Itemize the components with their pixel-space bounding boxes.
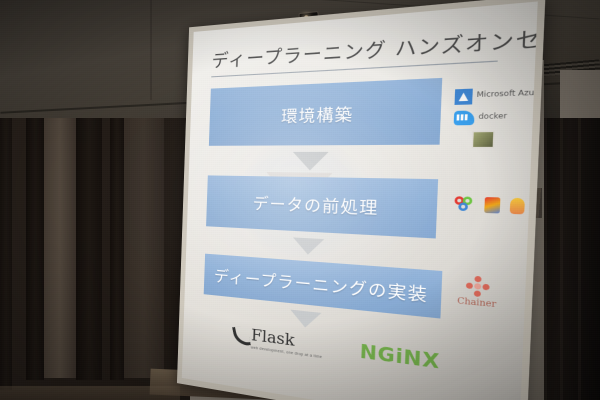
flow-arrow-1 <box>292 152 328 171</box>
logo-group-implementation: Chainer <box>457 275 497 310</box>
numpy-logo <box>484 197 500 213</box>
opencv-icon <box>453 196 475 212</box>
pandas-icon <box>510 198 525 215</box>
step-bar-implementation: ディープラーニングの実装 <box>204 254 443 319</box>
flow-step-1: 環境構築 Microsoft Azure <box>209 75 509 146</box>
step-bar-environment: 環境構築 <box>209 78 442 146</box>
image-logo <box>472 131 495 148</box>
projection-screen: KIKAGAKU ディープラーニング ハンズオンセミナー 環境構築 Micros… <box>177 0 546 400</box>
azure-icon <box>454 89 472 105</box>
flow-arrow-2 <box>292 237 324 255</box>
stage-edge-left <box>0 386 180 400</box>
docker-logo-text: docker <box>478 113 507 121</box>
image-logo-icon <box>472 131 495 148</box>
azure-logo: Microsoft Azure <box>454 86 537 105</box>
chainer-logo-text: Chainer <box>457 296 496 309</box>
flow-arrow-3 <box>290 310 322 330</box>
numpy-icon <box>484 197 500 213</box>
slide-title: ディープラーニング ハンズオンセミナー <box>211 24 510 72</box>
docker-icon <box>454 110 475 125</box>
step-bar-preprocessing: データの前処理 <box>206 175 438 238</box>
logo-group-preprocessing <box>453 196 525 214</box>
process-flow: 環境構築 Microsoft Azure <box>203 75 508 350</box>
docker-logo: docker <box>454 110 508 126</box>
flow-step-2: データの前処理 <box>206 175 504 242</box>
azure-logo-text: Microsoft Azure <box>476 90 537 100</box>
opencv-logo <box>453 196 475 212</box>
screen-surface: KIKAGAKU ディープラーニング ハンズオンセミナー 環境構築 Micros… <box>182 1 538 400</box>
photo-scene: KIKAGAKU ディープラーニング ハンズオンセミナー 環境構築 Micros… <box>0 0 600 400</box>
chainer-logo: Chainer <box>457 275 497 310</box>
pandas-logo <box>510 198 525 215</box>
flask-icon <box>232 326 251 348</box>
logo-group-environment: Microsoft Azure docker <box>453 85 538 149</box>
chainer-icon <box>465 275 489 298</box>
flow-step-3: ディープラーニングの実装 Chainer <box>204 254 500 325</box>
